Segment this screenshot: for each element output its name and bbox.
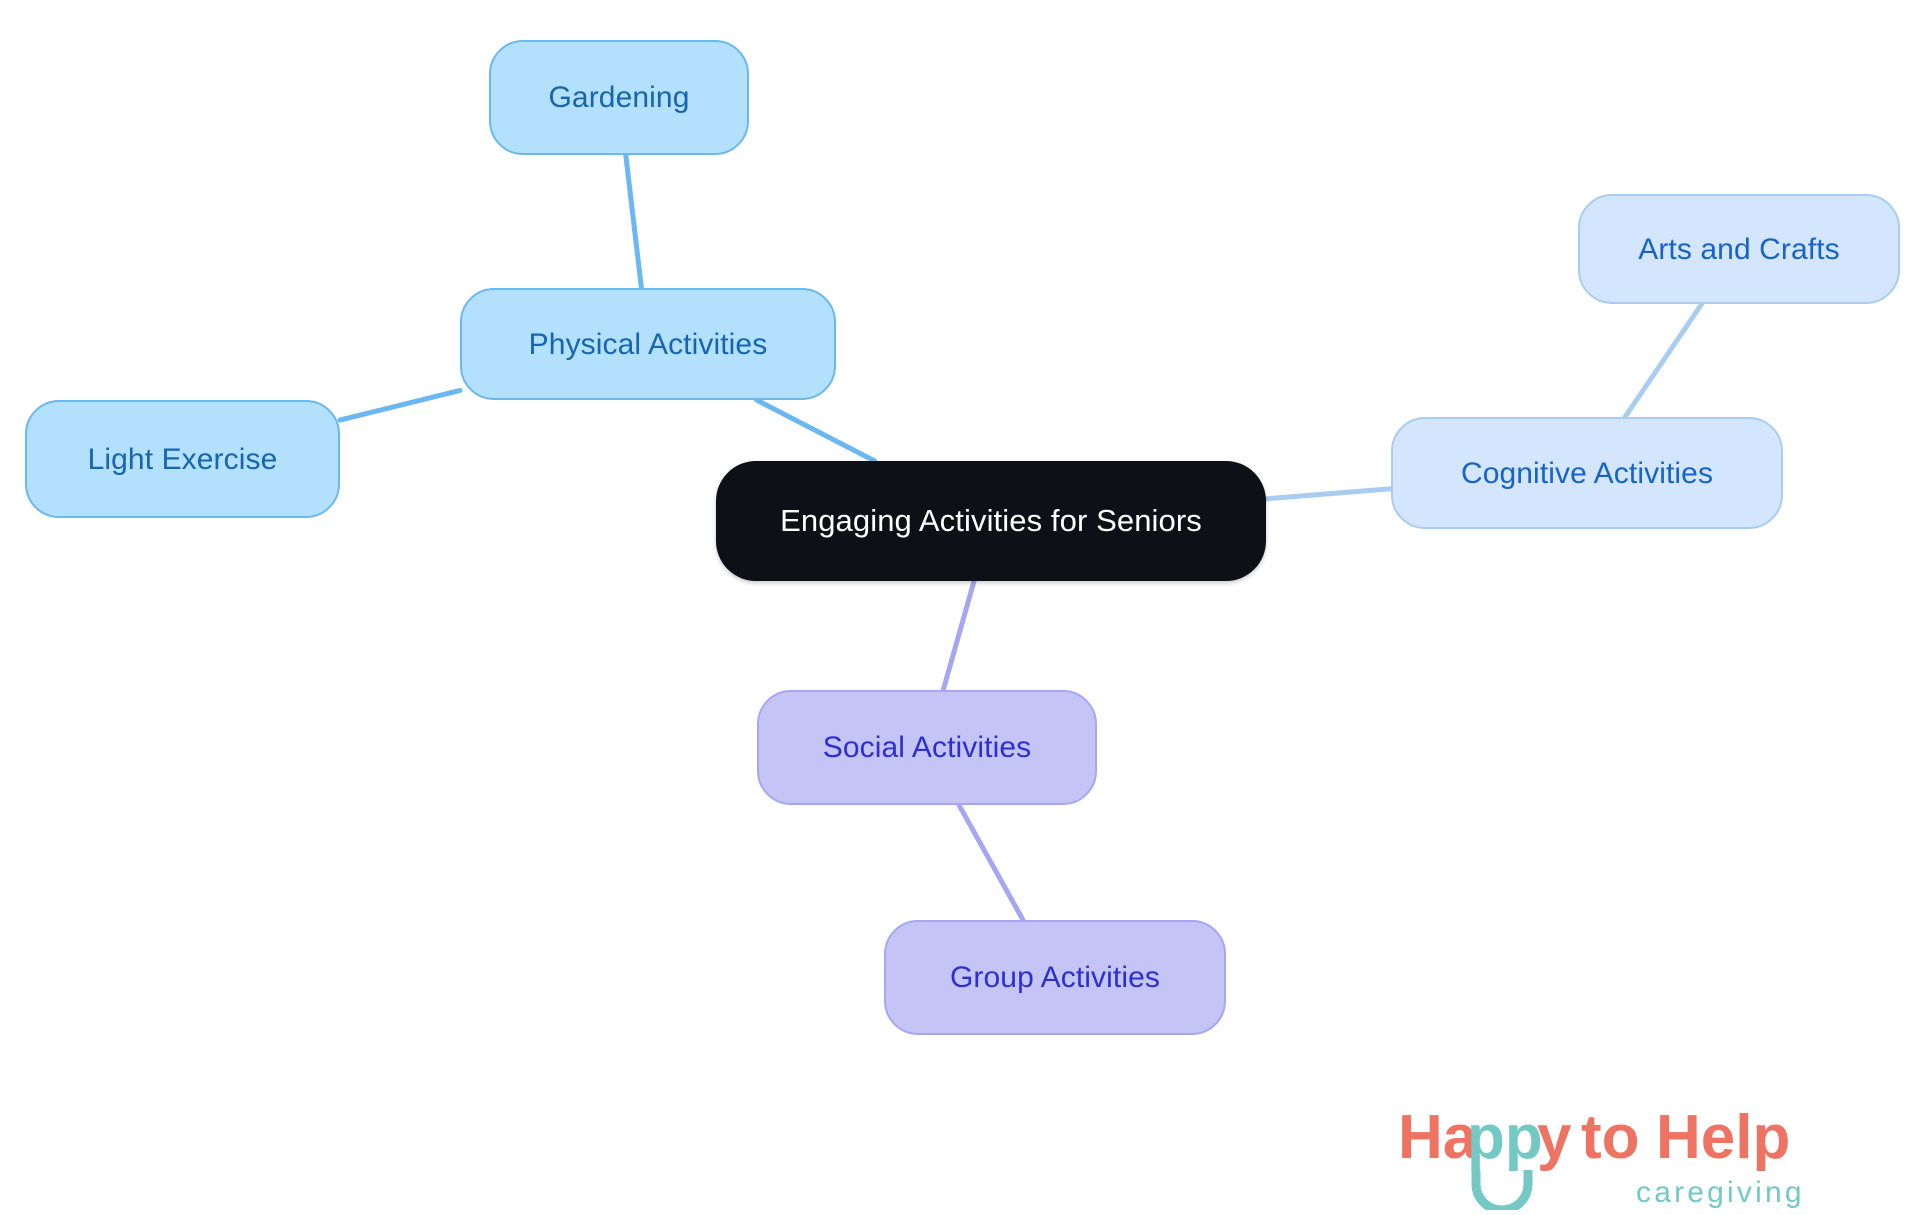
node-label-light-exercise: Light Exercise: [88, 443, 278, 476]
mindmap-canvas: Gardening Physical Activities Light Exer…: [0, 0, 1920, 1215]
mindmap-node-gardening[interactable]: Gardening: [489, 40, 749, 155]
mindmap-edge: [1266, 489, 1391, 499]
mindmap-edge: [340, 390, 460, 420]
logo-text-happy-part2: pp: [1467, 1103, 1543, 1172]
mindmap-edge: [757, 400, 875, 461]
mindmap-node-group-activities[interactable]: Group Activities: [884, 920, 1226, 1035]
mindmap-node-cognitive-activities[interactable]: Cognitive Activities: [1391, 417, 1783, 529]
node-label-cognitive-activities: Cognitive Activities: [1461, 457, 1713, 490]
mindmap-node-physical-activities[interactable]: Physical Activities: [460, 288, 836, 400]
mindmap-node-social-activities[interactable]: Social Activities: [757, 690, 1097, 805]
logo-text-help: Help: [1656, 1103, 1790, 1172]
logo-text-tagline: caregiving: [1636, 1176, 1805, 1209]
mindmap-edge: [959, 805, 1023, 920]
mindmap-node-light-exercise[interactable]: Light Exercise: [25, 400, 340, 518]
node-label-group-activities: Group Activities: [950, 961, 1160, 994]
smile-arc-icon: [1476, 1170, 1528, 1210]
logo-text-to: to: [1581, 1103, 1640, 1172]
logo-text-happy-part3: y: [1537, 1103, 1572, 1172]
node-label-social-activities: Social Activities: [823, 731, 1031, 764]
node-label-gardening: Gardening: [549, 81, 690, 114]
mindmap-node-root[interactable]: Engaging Activities for Seniors: [716, 461, 1266, 581]
mindmap-edge: [1625, 304, 1702, 417]
logo-text-happy-part1: Ha: [1398, 1103, 1478, 1172]
node-label-physical-activities: Physical Activities: [529, 328, 768, 361]
brand-logo: Ha pp y to Help caregiving: [1398, 1098, 1898, 1210]
mindmap-node-arts-and-crafts[interactable]: Arts and Crafts: [1578, 194, 1900, 304]
node-label-root: Engaging Activities for Seniors: [780, 504, 1202, 538]
node-label-arts-and-crafts: Arts and Crafts: [1638, 233, 1840, 266]
mindmap-edge: [626, 155, 642, 288]
mindmap-edge: [943, 581, 974, 690]
